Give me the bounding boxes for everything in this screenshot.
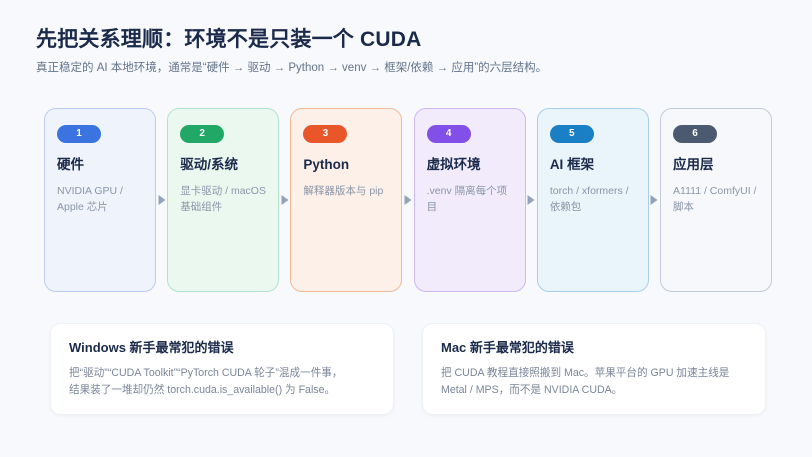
step-badge: 2 bbox=[180, 125, 224, 143]
flow-connector-4 bbox=[526, 108, 537, 292]
note-title: Windows 新手最常犯的错误 bbox=[69, 340, 375, 356]
step-badge: 4 bbox=[427, 125, 471, 143]
note-body-line-1: 把 CUDA 教程直接照搬到 Mac。苹果平台的 GPU 加速主线是 bbox=[441, 365, 747, 382]
step-description: torch / xformers / 依赖包 bbox=[550, 183, 636, 216]
note-title: Mac 新手最常犯的错误 bbox=[441, 340, 747, 356]
flow-card-1[interactable]: 1硬件NVIDIA GPU / Apple 芯片 bbox=[44, 108, 156, 292]
step-description: 显卡驱动 / macOS 基础组件 bbox=[180, 183, 266, 216]
note-body: 把 CUDA 教程直接照搬到 Mac。苹果平台的 GPU 加速主线是 Metal… bbox=[441, 365, 747, 399]
note-body-line-1: 把“驱动”“CUDA Toolkit”“PyTorch CUDA 轮子”混成一件… bbox=[69, 365, 375, 382]
flow-card-6[interactable]: 6应用层A1111 / ComfyUI / 脚本 bbox=[660, 108, 772, 292]
flow-card-3[interactable]: 3Python解释器版本与 pip bbox=[290, 108, 402, 292]
arrow-right-icon bbox=[528, 195, 535, 205]
flow-connector-5 bbox=[649, 108, 660, 292]
step-title: AI 框架 bbox=[550, 157, 636, 174]
note-panel-1: Windows 新手最常犯的错误把“驱动”“CUDA Toolkit”“PyTo… bbox=[50, 323, 394, 415]
flow-card-5[interactable]: 5AI 框架torch / xformers / 依赖包 bbox=[537, 108, 649, 292]
step-title: 虚拟环境 bbox=[427, 157, 513, 174]
flow-card-4[interactable]: 4虚拟环境.venv 隔离每个项目 bbox=[414, 108, 526, 292]
step-badge: 3 bbox=[303, 125, 347, 143]
flow-connector-3 bbox=[402, 108, 413, 292]
note-body-line-2: Metal / MPS，而不是 NVIDIA CUDA。 bbox=[441, 382, 747, 399]
common-mistakes-panels: Windows 新手最常犯的错误把“驱动”“CUDA Toolkit”“PyTo… bbox=[50, 323, 766, 415]
step-title: 应用层 bbox=[673, 157, 759, 174]
step-title: Python bbox=[303, 157, 389, 174]
flow-connector-2 bbox=[279, 108, 290, 292]
note-body: 把“驱动”“CUDA Toolkit”“PyTorch CUDA 轮子”混成一件… bbox=[69, 365, 375, 399]
layer-flow-diagram: 1硬件NVIDIA GPU / Apple 芯片2驱动/系统显卡驱动 / mac… bbox=[44, 108, 772, 292]
arrow-right-icon bbox=[281, 195, 288, 205]
step-badge: 6 bbox=[673, 125, 717, 143]
page-subtitle: 真正稳定的 AI 本地环境，通常是“硬件 → 驱动 → Python → ven… bbox=[36, 60, 780, 77]
step-description: A1111 / ComfyUI / 脚本 bbox=[673, 183, 759, 216]
flow-card-2[interactable]: 2驱动/系统显卡驱动 / macOS 基础组件 bbox=[167, 108, 279, 292]
page-title: 先把关系理顺：环境不是只装一个 CUDA bbox=[36, 26, 780, 53]
slide-canvas: 先把关系理顺：环境不是只装一个 CUDA 真正稳定的 AI 本地环境，通常是“硬… bbox=[0, 0, 812, 457]
step-badge: 1 bbox=[57, 125, 101, 143]
step-description: NVIDIA GPU / Apple 芯片 bbox=[57, 183, 143, 216]
step-title: 驱动/系统 bbox=[180, 157, 266, 174]
step-description: .venv 隔离每个项目 bbox=[427, 183, 513, 216]
note-body-line-2: 结果装了一堆却仍然 torch.cuda.is_available() 为 Fa… bbox=[69, 382, 375, 399]
flow-connector-1 bbox=[156, 108, 167, 292]
arrow-right-icon bbox=[405, 195, 412, 205]
step-title: 硬件 bbox=[57, 157, 143, 174]
step-badge: 5 bbox=[550, 125, 594, 143]
step-description: 解释器版本与 pip bbox=[303, 183, 389, 199]
arrow-right-icon bbox=[158, 195, 165, 205]
slide-header: 先把关系理顺：环境不是只装一个 CUDA 真正稳定的 AI 本地环境，通常是“硬… bbox=[36, 26, 780, 78]
arrow-right-icon bbox=[651, 195, 658, 205]
note-panel-2: Mac 新手最常犯的错误把 CUDA 教程直接照搬到 Mac。苹果平台的 GPU… bbox=[422, 323, 766, 415]
